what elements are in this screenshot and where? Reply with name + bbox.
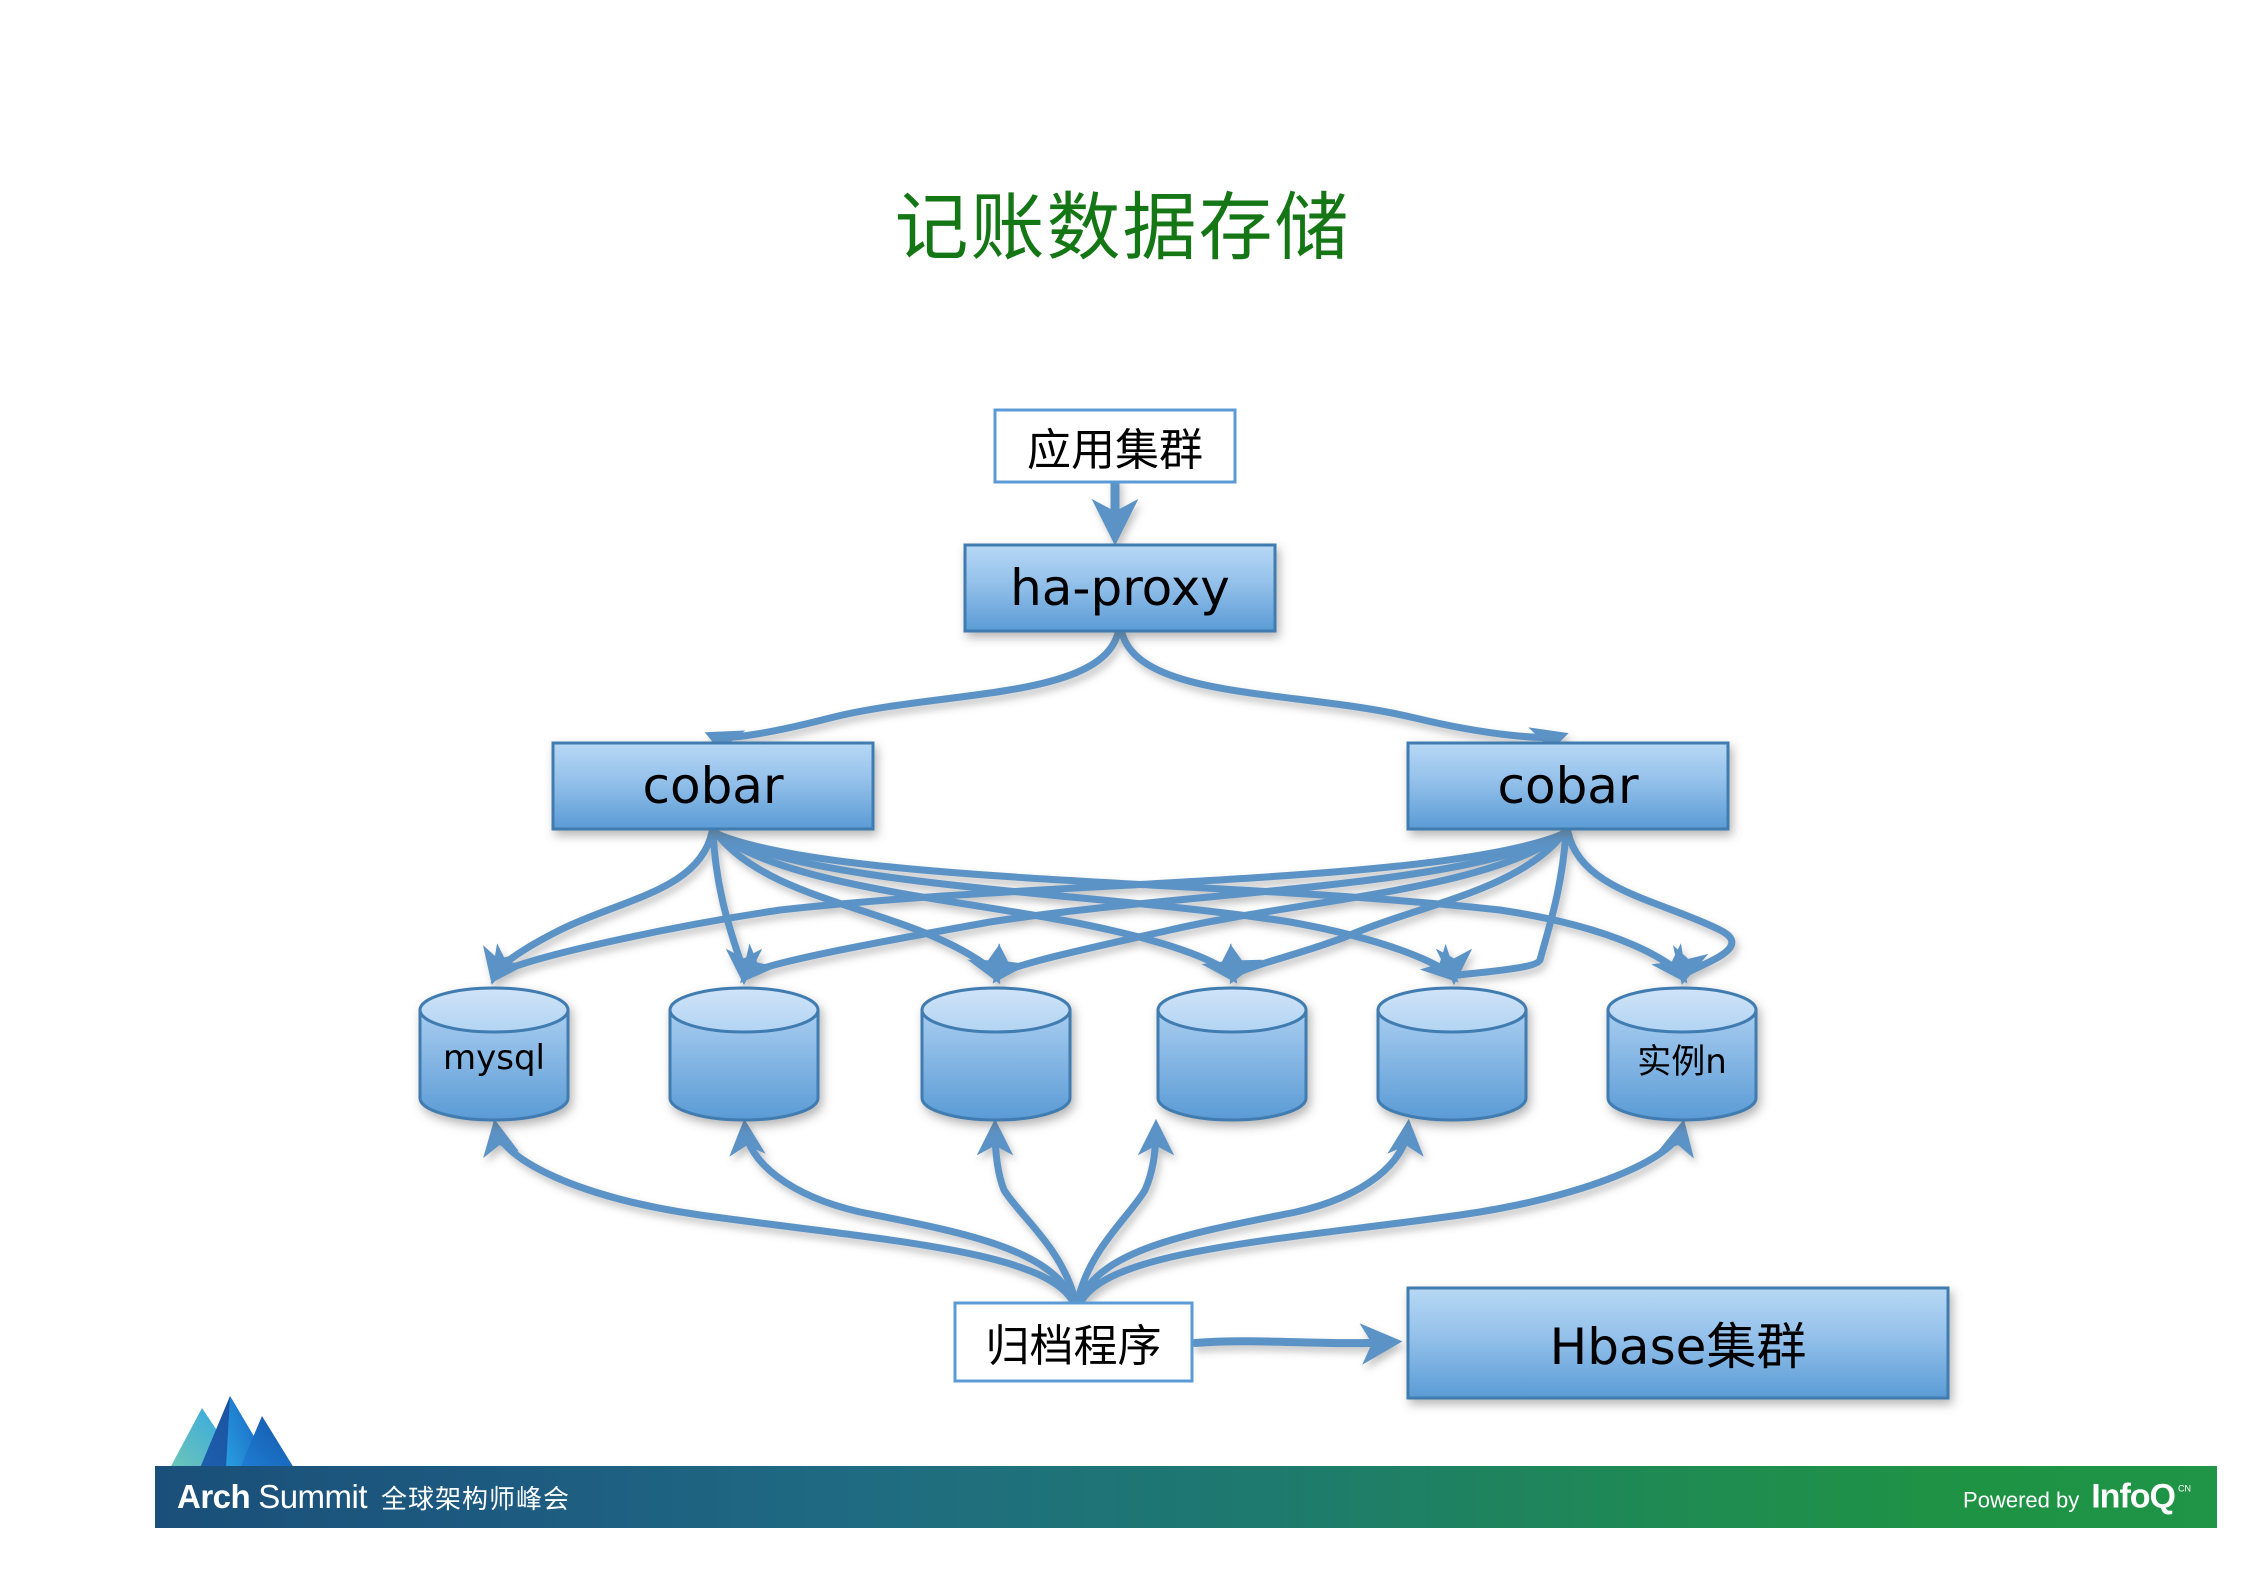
node-cobar-left[interactable] bbox=[553, 743, 873, 829]
node-ha-proxy[interactable] bbox=[965, 545, 1275, 631]
edge-haproxy-to-cobar-right bbox=[1122, 633, 1560, 737]
edge-cobarR-to-db1 bbox=[496, 836, 1558, 976]
architecture-diagram bbox=[0, 0, 2245, 1440]
node-db-5[interactable] bbox=[1378, 988, 1526, 1120]
node-db-4[interactable] bbox=[1158, 988, 1306, 1120]
brand-arch-text: Arch bbox=[177, 1478, 250, 1516]
node-layer bbox=[420, 410, 1948, 1398]
node-cobar-right[interactable] bbox=[1408, 743, 1728, 829]
brand-chinese-text: 全球架构师峰会 bbox=[381, 1479, 570, 1516]
node-db-6[interactable] bbox=[1608, 988, 1756, 1120]
node-db-3[interactable] bbox=[922, 988, 1070, 1120]
edge-haproxy-to-cobar-left bbox=[713, 633, 1118, 737]
edge-archive-to-hbase bbox=[1195, 1341, 1392, 1343]
node-hbase-cluster[interactable] bbox=[1408, 1288, 1948, 1398]
edge-archive-to-db6 bbox=[1082, 1128, 1682, 1300]
node-app-cluster[interactable] bbox=[995, 410, 1235, 482]
powered-by-label: Powered by bbox=[1963, 1488, 2079, 1514]
archsummit-brand: Arch Summit 全球架构师峰会 bbox=[177, 1478, 570, 1516]
node-db-2[interactable] bbox=[670, 988, 818, 1120]
slide-canvas: 记账数据存储 bbox=[0, 0, 2245, 1586]
edge-archive-to-db1 bbox=[496, 1128, 1072, 1300]
infoq-logo-text: InfoQ bbox=[2091, 1478, 2175, 1517]
archsummit-mountain-logo bbox=[170, 1396, 330, 1468]
edge-cobarL-to-db1 bbox=[494, 832, 712, 976]
brand-summit-text: Summit bbox=[258, 1478, 367, 1516]
node-archive-program[interactable] bbox=[955, 1303, 1192, 1381]
infoq-tm-mark: CN bbox=[2178, 1484, 2191, 1494]
powered-by-infoq: Powered by InfoQ CN bbox=[1963, 1478, 2191, 1517]
node-db-1[interactable] bbox=[420, 988, 568, 1120]
footer-bar: Arch Summit 全球架构师峰会 Powered by InfoQ CN bbox=[155, 1466, 2217, 1528]
